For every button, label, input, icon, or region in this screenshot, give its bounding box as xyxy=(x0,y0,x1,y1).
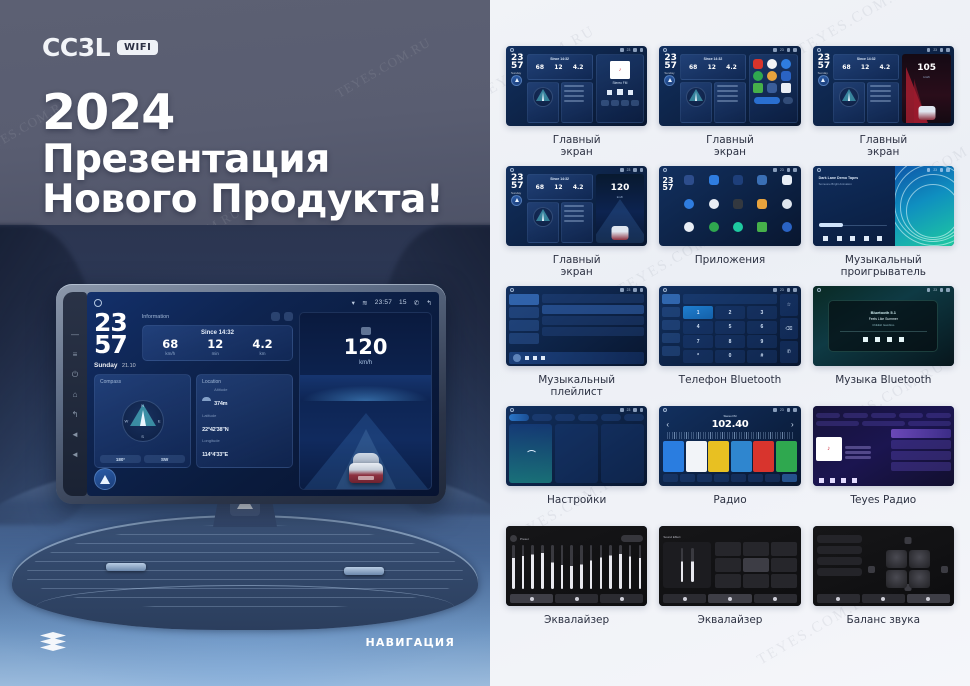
key[interactable]: 1 xyxy=(683,306,713,319)
preset-tile[interactable] xyxy=(715,574,741,588)
mini-lower-row xyxy=(527,82,593,123)
balance-presets[interactable] xyxy=(817,535,862,603)
trip-metric-value: 68 xyxy=(162,339,178,351)
gallery-item[interactable]: 23 23 57 xyxy=(659,166,800,286)
station-row xyxy=(891,429,951,438)
mini-android-button[interactable] xyxy=(511,75,522,86)
filter-chip xyxy=(816,421,859,426)
preset-3 xyxy=(708,441,729,472)
gallery-item[interactable]: 23 Preset xyxy=(506,526,647,646)
balance-preset-left[interactable] xyxy=(817,557,862,565)
compass-readout: 180° SW xyxy=(100,455,185,463)
next-station-icon[interactable]: › xyxy=(791,420,794,429)
tab-eq[interactable] xyxy=(510,594,553,603)
track-row xyxy=(542,305,645,314)
mini-clock-day: Sunday xyxy=(664,72,677,75)
clock-widget[interactable]: 23 57 Sunday 21.10 xyxy=(94,312,136,370)
thumbnail-bt-phone[interactable]: 23 1 xyxy=(659,286,800,366)
key[interactable]: 5 xyxy=(715,321,745,334)
preset-grid[interactable] xyxy=(715,542,796,588)
teyes-controls[interactable] xyxy=(816,478,951,483)
altitude-key: Altitude xyxy=(214,387,227,392)
thumbnail-home-music[interactable]: 23 23 57 Sunday Since 14:32 xyxy=(506,46,647,126)
bt-progress-bar[interactable] xyxy=(840,331,927,332)
home-indicator-icon[interactable] xyxy=(94,299,102,307)
key[interactable]: 6 xyxy=(747,321,777,334)
mini-info-column: Since 14:32 68 12 4.2 xyxy=(680,54,746,123)
tab-settings[interactable] xyxy=(662,346,680,356)
band-slider xyxy=(580,545,583,589)
bt-icon xyxy=(633,48,637,52)
thumbnail-music-player[interactable]: Dark Lane Demo Tapes Someone Bright Anim… xyxy=(813,166,954,246)
location-widget[interactable]: Location Altitude 374m xyxy=(196,374,293,468)
call-icon[interactable]: ✆ xyxy=(780,341,798,363)
mini-trip-value: 4.2 xyxy=(573,64,584,71)
band-slider xyxy=(590,545,593,589)
card-more[interactable] xyxy=(601,424,644,483)
mini-app-panel[interactable] xyxy=(749,54,798,123)
player-controls[interactable] xyxy=(819,236,887,241)
hero-footer: НАВИГАЦИЯ xyxy=(0,608,490,686)
section-title: Sound Effect xyxy=(663,535,680,539)
gallery-item[interactable]: 23 xyxy=(506,406,647,526)
android-auto-icon xyxy=(821,78,825,82)
home-indicator-icon xyxy=(510,408,514,412)
key[interactable]: 7 xyxy=(683,335,713,348)
mini-since-label: Since 14:32 xyxy=(684,57,742,61)
playlist-now-playing-bar[interactable] xyxy=(509,352,644,364)
caption-line-1: Настройки xyxy=(547,495,606,507)
thumbnail-home-nav-blue[interactable]: 23 23 57 Sunday Since 14:32 xyxy=(506,166,647,246)
key[interactable]: 3 xyxy=(747,306,777,319)
compass-direction-value: SW xyxy=(144,455,185,463)
progress-bar[interactable] xyxy=(819,225,887,227)
head-unit-side-rail[interactable]: — ≡ ⏻ ⌂ ↰ ◄ ◄ xyxy=(63,292,87,496)
thumbnail-apps[interactable]: 23 23 57 xyxy=(659,166,800,246)
gallery-caption: Главный экран xyxy=(859,135,907,159)
preset-tile[interactable] xyxy=(771,542,797,556)
dock-button-primary[interactable] xyxy=(754,97,780,104)
balance-layout[interactable] xyxy=(813,526,954,606)
speaker-rear-left xyxy=(886,570,907,588)
teyes-topbar xyxy=(816,413,951,418)
radio-layout[interactable]: Stereo FM ‹ 102.40 › xyxy=(661,414,798,484)
latitude-value: 22°42'38"N xyxy=(202,427,228,433)
mini-status-bar: 23 xyxy=(659,286,800,294)
tab-balance[interactable] xyxy=(754,594,797,603)
balance-preset-right[interactable] xyxy=(817,568,862,576)
trip-metric: 68 km/h xyxy=(162,339,178,357)
presentation-page: TEYES.COM.RU TEYES.COM.RU TEYES.COM.RU T… xyxy=(0,0,970,686)
play-pause-icon xyxy=(875,337,880,342)
stop-icon xyxy=(617,89,623,95)
caption-line-1: Teyes Радио xyxy=(850,495,916,507)
pause-icon xyxy=(850,236,855,241)
app-icon-youtube xyxy=(753,59,763,69)
headlight-icon xyxy=(361,327,371,335)
lead-vehicle-icon xyxy=(349,453,383,483)
mini-status-right: 23 xyxy=(620,168,643,172)
tab-eq[interactable] xyxy=(663,594,706,603)
thumbnail-equalizer-presets[interactable]: 23 Sound Effect xyxy=(659,526,800,606)
radio-presets[interactable] xyxy=(663,441,796,472)
thumbnail-teyes-radio[interactable]: ♪ xyxy=(813,406,954,486)
gallery-caption: Приложения xyxy=(695,255,765,267)
thumbnail-radio[interactable]: 23 Stereo FM ‹ 102.40 › xyxy=(659,406,800,486)
gallery-item[interactable]: 23 23 57 Sunday Since 14:32 xyxy=(813,46,954,166)
preset-tile[interactable] xyxy=(771,558,797,572)
caption-line-2: экран xyxy=(553,147,601,159)
tab-system[interactable] xyxy=(578,414,598,421)
back-icon[interactable]: ↰ xyxy=(426,299,432,307)
thumbnail-home-nav-red[interactable]: 23 23 57 Sunday Since 14:32 xyxy=(813,46,954,126)
app-tile xyxy=(678,199,700,220)
tab-search[interactable] xyxy=(662,320,680,330)
key[interactable]: # xyxy=(747,350,777,363)
gallery-item[interactable]: 23 xyxy=(813,526,954,646)
back-icon xyxy=(640,288,644,292)
nav-preview-blue: 120 km/h xyxy=(596,174,645,243)
balance-preset-front[interactable] xyxy=(817,535,862,543)
bt-controls[interactable] xyxy=(863,337,904,342)
trip-metric-unit: km/h xyxy=(162,351,178,356)
bt-version-label: Bluetooth 5.1 xyxy=(871,310,896,315)
gallery-item[interactable]: 23 Sound Effect xyxy=(659,526,800,646)
band-slider xyxy=(531,545,534,589)
app-icon-gallery xyxy=(782,199,792,209)
trip-metric-unit: min xyxy=(207,351,223,356)
tab-contacts[interactable] xyxy=(662,307,680,317)
key[interactable]: * xyxy=(683,350,713,363)
caption-line-1: Приложения xyxy=(695,255,765,267)
equalizer-layout[interactable]: Preset xyxy=(506,526,647,606)
dialer-rail xyxy=(662,294,680,363)
mini-trip-card: Since 14:32 68 12 4.2 xyxy=(527,54,593,80)
preset-tile[interactable] xyxy=(743,574,769,588)
preset-tile[interactable] xyxy=(743,542,769,556)
mic-icon[interactable]: ◄ xyxy=(71,430,80,439)
back-icon xyxy=(640,48,644,52)
android-auto-button[interactable] xyxy=(94,468,116,490)
equalizer-sliders[interactable] xyxy=(510,545,643,589)
thumbnail-bt-music[interactable]: Bluetooth 5.1 Feels Like Summer Childish… xyxy=(813,286,954,366)
mini-clock-day: Sunday xyxy=(818,72,831,75)
band-slider xyxy=(541,545,544,589)
gallery-item[interactable]: 23 23 57 Sunday Since 14:32 xyxy=(506,46,647,166)
key[interactable]: 9 xyxy=(747,335,777,348)
mini-status-bar: 23 xyxy=(813,46,954,54)
trip-metric-unit: km xyxy=(252,351,272,356)
gallery-item[interactable]: 23 23 57 Sunday Since 14:32 xyxy=(506,166,647,286)
backspace-icon[interactable]: ⌫ xyxy=(780,318,798,340)
band-slider xyxy=(570,545,573,589)
next-icon xyxy=(864,236,869,241)
preset-tile[interactable] xyxy=(715,542,741,556)
key[interactable]: 2 xyxy=(715,306,745,319)
gallery-caption: Эквалайзер xyxy=(698,615,763,627)
mini-trip-value: 68 xyxy=(536,64,544,71)
prev-station-icon[interactable]: ‹ xyxy=(666,420,669,429)
settings-cards[interactable] xyxy=(509,424,644,483)
tab-display[interactable] xyxy=(555,414,575,421)
card-hotspot[interactable] xyxy=(555,424,598,483)
mini-clock-text: 23 xyxy=(933,288,937,292)
app-icon-mail xyxy=(781,71,791,81)
key[interactable]: 0 xyxy=(715,350,745,363)
mini-clock-minutes: 57 xyxy=(511,62,524,70)
clock-and-info-row: 23 57 Sunday 21.10 Information xyxy=(94,312,293,370)
balance-right-arrow[interactable] xyxy=(941,566,948,573)
refresh-icon[interactable] xyxy=(284,312,293,321)
gallery-item[interactable]: 23 1 xyxy=(659,286,800,406)
mini-player-controls[interactable] xyxy=(597,89,644,95)
home-indicator-icon xyxy=(663,48,667,52)
gallery-item[interactable]: 23 Музыкальный плейлист xyxy=(506,286,647,406)
app-icon-bluetooth xyxy=(709,175,719,185)
speaker-front-left xyxy=(886,550,907,568)
app-tile xyxy=(678,222,700,243)
gallery-caption: Настройки xyxy=(547,495,606,507)
mini-clock-text: 23 xyxy=(933,168,937,172)
key[interactable]: 8 xyxy=(715,335,745,348)
thumbnail-sound-balance[interactable]: 23 xyxy=(813,526,954,606)
app-tile xyxy=(703,199,725,220)
mini-status-right: 23 xyxy=(620,48,643,52)
equalizer-tabs[interactable] xyxy=(663,594,796,603)
preset-tile[interactable] xyxy=(771,574,797,588)
information-header: Information xyxy=(142,312,294,322)
android-auto-icon xyxy=(100,475,110,484)
dialed-number-field[interactable] xyxy=(683,294,777,304)
gallery-item[interactable]: Bluetooth 5.1 Feels Like Summer Childish… xyxy=(813,286,954,406)
mini-trip-value: 12 xyxy=(554,64,562,71)
preset-selector[interactable] xyxy=(621,535,643,542)
gallery-caption: Телефон Bluetooth xyxy=(679,375,782,387)
volume-down-icon[interactable]: — xyxy=(71,330,80,339)
tab-sound[interactable] xyxy=(532,414,552,421)
lead-vehicle-icon xyxy=(918,106,935,120)
tab-history[interactable] xyxy=(662,333,680,343)
mini-status-right: 23 xyxy=(773,408,796,412)
keypad[interactable]: 1 2 3 4 5 6 7 8 9 * 0 # xyxy=(683,306,777,363)
app-icon-bt-music xyxy=(733,175,743,185)
sidebar-item-albums xyxy=(509,320,539,331)
mini-trip-values: 68 12 4.2 xyxy=(684,64,742,71)
dual-sliders[interactable] xyxy=(663,542,711,588)
mini-clock-widget: 23 57 Sunday xyxy=(509,54,524,123)
home-icon[interactable]: ⌂ xyxy=(71,390,80,399)
tab-wifi[interactable] xyxy=(509,414,529,421)
balance-left-arrow[interactable] xyxy=(868,566,875,573)
latitude-block: Latitude 22°42'38"N xyxy=(202,413,287,436)
mini-clock-text: 23 xyxy=(780,408,784,412)
nav-tab xyxy=(843,413,868,418)
mini-status-bar: 23 xyxy=(506,46,647,54)
product-logo: CC3L WIFI xyxy=(42,33,158,62)
bt-music-panel: Bluetooth 5.1 Feels Like Summer Childish… xyxy=(828,300,938,353)
tab-more[interactable] xyxy=(624,414,644,421)
bt-music-layout: Bluetooth 5.1 Feels Like Summer Childish… xyxy=(813,286,954,366)
mini-status-right: 23 xyxy=(927,168,950,172)
balance-preset-rear[interactable] xyxy=(817,546,862,554)
mini-lower-row xyxy=(527,202,593,243)
back-icon[interactable]: ↰ xyxy=(71,410,80,419)
app-tile xyxy=(775,199,797,220)
information-actions[interactable] xyxy=(271,312,293,321)
settings-tabs[interactable] xyxy=(509,414,644,421)
tab-about[interactable] xyxy=(601,414,621,421)
mini-status-right: 23 xyxy=(620,288,643,292)
app-icon-dvr xyxy=(733,199,743,209)
mini-android-button[interactable] xyxy=(664,75,675,86)
gallery-item[interactable]: Dark Lane Demo Tapes Someone Bright Anim… xyxy=(813,166,954,286)
track-artist: Someone Bright Animation xyxy=(819,182,890,186)
bt-icon xyxy=(633,168,637,172)
mini-trip-value: 12 xyxy=(708,64,716,71)
trip-metric: 12 min xyxy=(207,339,223,357)
settings-layout[interactable] xyxy=(509,414,644,483)
app-icon-music2 xyxy=(733,222,743,232)
dialer-layout[interactable]: 1 2 3 4 5 6 7 8 9 * 0 # xyxy=(662,294,797,363)
teyes-content-row: ♪ xyxy=(816,429,951,475)
status-bar: ▾ ≋ 23:57 15 ✆ ↰ xyxy=(94,298,432,308)
mini-clock-text: 23 xyxy=(780,168,784,172)
information-widget[interactable]: Information Since 14:32 xyxy=(142,312,294,370)
mini-nav-widget: 120 km/h xyxy=(596,174,645,243)
clock-weekday: Sunday xyxy=(94,362,117,369)
mini-home-layout: 23 57 Sunday Since 14:32 68 12 xyxy=(662,54,797,123)
preset-tile[interactable] xyxy=(715,558,741,572)
tool-loc xyxy=(748,474,763,482)
volume-level: 15 xyxy=(399,299,407,306)
mini-android-button[interactable] xyxy=(511,195,522,206)
radio-tuning-scale[interactable] xyxy=(667,432,792,439)
tool-rds xyxy=(731,474,746,482)
mini-source-pills[interactable] xyxy=(597,100,644,106)
app-tile xyxy=(678,175,700,196)
balance-up-arrow[interactable] xyxy=(904,537,911,544)
gallery-caption: Главный экран xyxy=(553,135,601,159)
menu-icon[interactable]: ◄ xyxy=(71,450,80,459)
head-unit-screen[interactable]: ▾ ≋ 23:57 15 ✆ ↰ 23 xyxy=(87,292,439,496)
caption-line-1: Эквалайзер xyxy=(698,615,763,627)
compass-icon xyxy=(686,87,706,107)
compass-needle-icon xyxy=(140,410,146,426)
balance-pad[interactable] xyxy=(866,535,950,603)
gallery-caption: Эквалайзер xyxy=(544,615,609,627)
thumbnail-home-apps[interactable]: 23 23 57 Sunday Since 14:32 xyxy=(659,46,800,126)
home-indicator-icon xyxy=(510,168,514,172)
compass-dial-wrap: N S W E xyxy=(100,387,185,455)
app-tile xyxy=(751,199,773,220)
gallery-item[interactable]: 23 23 57 Sunday Since 14:32 xyxy=(659,46,800,166)
vent-knob-left[interactable] xyxy=(106,563,146,571)
gallery-caption: Баланс звука xyxy=(847,615,921,627)
preset-4 xyxy=(731,441,752,472)
teyes-radio-layout[interactable]: ♪ xyxy=(813,406,954,486)
mini-status-right: 23 xyxy=(773,48,796,52)
band-slider xyxy=(551,545,554,589)
tool-scan xyxy=(680,474,695,482)
card-wifi[interactable] xyxy=(509,424,552,483)
gallery-caption: Музыка Bluetooth xyxy=(835,375,931,387)
caption-line-2: экран xyxy=(706,147,754,159)
home-indicator-icon xyxy=(817,288,821,292)
prev-icon xyxy=(525,356,529,360)
radio-toolbar[interactable] xyxy=(663,474,796,482)
mini-compass-card xyxy=(680,82,712,123)
app-tile xyxy=(751,222,773,243)
shuffle-icon xyxy=(823,236,828,241)
teyes-station-list[interactable] xyxy=(891,429,951,475)
track-title: Dark Lane Demo Tapes xyxy=(819,176,890,180)
mini-android-button[interactable] xyxy=(818,75,829,86)
sidebar-item-all xyxy=(509,294,539,305)
nav-preview-red: 105 km/h xyxy=(902,54,951,123)
preset-1 xyxy=(663,441,684,472)
player-layout: Dark Lane Demo Tapes Someone Bright Anim… xyxy=(813,166,954,246)
tab-sound-field[interactable] xyxy=(555,594,598,603)
caption-line-1: Главный xyxy=(706,135,754,147)
track-row xyxy=(542,316,645,325)
key[interactable]: 4 xyxy=(683,321,713,334)
app-icon-play-store xyxy=(753,83,763,93)
home-indicator-icon xyxy=(663,408,667,412)
mini-home-layout: 23 57 Sunday Since 14:32 68 12 xyxy=(509,54,644,123)
favorite-star-icon[interactable]: ☆ xyxy=(780,294,798,316)
mini-clock-text: 23 xyxy=(780,48,784,52)
tab-sound-field[interactable] xyxy=(708,594,751,603)
preset-tile-selected[interactable] xyxy=(743,558,769,572)
radio-band-label: Stereo FM xyxy=(661,414,798,418)
vent-knob-right[interactable] xyxy=(344,567,384,575)
equalizer-tabs[interactable] xyxy=(510,594,643,603)
settings-gear-icon[interactable] xyxy=(271,312,280,321)
back-icon xyxy=(793,168,797,172)
compass-widget[interactable]: Compass N S W E xyxy=(94,374,191,468)
wifi-icon xyxy=(773,408,777,412)
home-left-column: 23 57 Sunday 21.10 Information xyxy=(94,312,293,490)
dock-button-secondary[interactable] xyxy=(783,97,793,104)
app-drawer-grid[interactable] xyxy=(662,175,797,243)
preset-5 xyxy=(753,441,774,472)
player-info-pane: Dark Lane Demo Tapes Someone Bright Anim… xyxy=(813,166,895,246)
back-icon xyxy=(946,48,950,52)
nav-tab xyxy=(899,413,924,418)
thumbnail-playlist[interactable]: 23 xyxy=(506,286,647,366)
mini-speed-unit: km/h xyxy=(902,75,951,79)
tab-keypad[interactable] xyxy=(662,294,680,304)
mini-trip-card: Since 14:32 68 12 4.2 xyxy=(527,174,593,200)
preset-name: Preset xyxy=(520,537,529,541)
app-icon-filemanager xyxy=(757,199,767,209)
radio-frequency: 102.40 xyxy=(712,419,749,430)
equalizer-preset-layout[interactable]: Sound Effect xyxy=(659,526,800,606)
app-tile xyxy=(751,175,773,196)
gallery-item[interactable]: 23 Stereo FM ‹ 102.40 › xyxy=(659,406,800,526)
thumbnail-equalizer-bands[interactable]: 23 Preset xyxy=(506,526,647,606)
caption-line-2: экран xyxy=(859,147,907,159)
pause-icon xyxy=(533,356,537,360)
gallery-item[interactable]: ♪ Teyes Радио xyxy=(813,406,954,526)
trip-metrics: 68 km/h 12 min xyxy=(148,339,288,357)
navigation-widget[interactable]: 120 km/h xyxy=(299,312,432,490)
tab-balance[interactable] xyxy=(600,594,643,603)
album-art-icon xyxy=(513,354,521,362)
thumbnail-settings[interactable]: 23 xyxy=(506,406,647,486)
power-icon[interactable]: ⏻ xyxy=(71,370,80,379)
volume-up-icon[interactable]: ≡ xyxy=(71,350,80,359)
